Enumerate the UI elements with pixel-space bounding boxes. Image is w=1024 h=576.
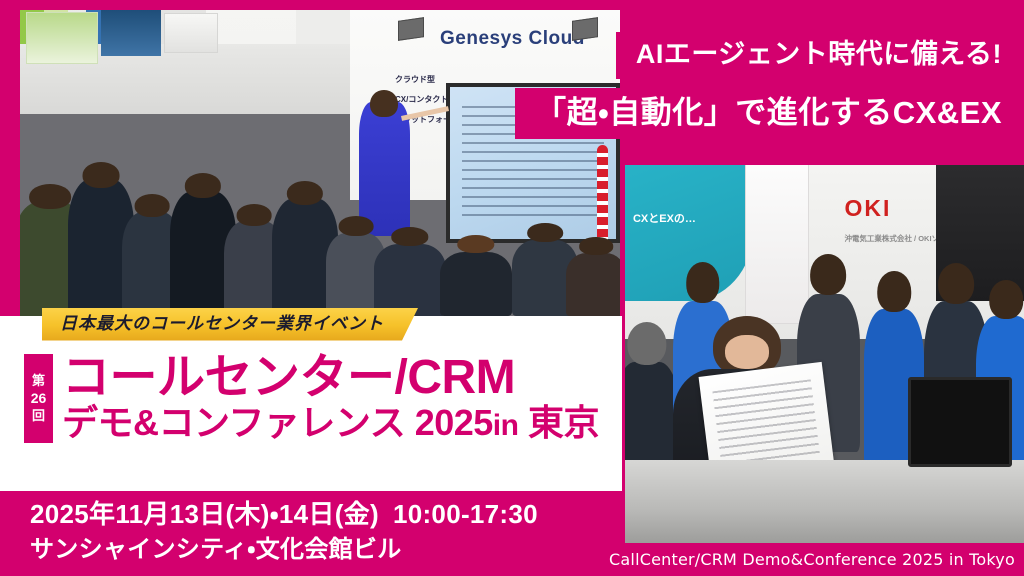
attendee xyxy=(374,244,446,316)
ceiling-speaker-icon xyxy=(398,17,424,41)
attendee-crowd xyxy=(20,126,620,316)
title-line-2-in: in xyxy=(493,409,519,442)
attendee xyxy=(566,253,620,316)
title-lines: コールセンター/CRM デモ&コンファレンス 2025in 東京 xyxy=(62,354,599,443)
schedule-band: 2025年11月13日(木)・14日(金)10:00-17:30 サンシャインシ… xyxy=(0,491,624,576)
event-info-panel: 日本最大のコールセンター業界イベント 第 26 回 コールセンター/CRM デモ… xyxy=(0,316,622,491)
genesys-subtitle-1: クラウド型 xyxy=(395,74,435,85)
caption-bar: CallCenter/CRM Demo&Conference 2025 in T… xyxy=(600,543,1024,576)
exhibit-counter xyxy=(625,460,1024,543)
attendee xyxy=(440,252,512,317)
demo-monitor xyxy=(908,377,1012,468)
title-line-2-city: 東京 xyxy=(528,402,599,443)
title-line-2-main: デモ&コンファレンス 2025 xyxy=(62,402,493,443)
expo-photo-right: CXとEXの… OKI 沖電気工業株式会社 / OKIソフトウェア xyxy=(625,165,1024,543)
booth-whiteboard xyxy=(745,165,809,324)
edition-number: 26 xyxy=(31,391,47,405)
title-line-2: デモ&コンファレンス 2025in 東京 xyxy=(62,403,599,443)
booth-panel-blue xyxy=(101,10,161,56)
event-date: 2025年11月13日(木)・14日(金) xyxy=(30,499,379,529)
event-venue: サンシャインシティ・文化会館ビル xyxy=(30,538,402,562)
headline-block: AIエージェント時代に備える! 「超・自動化」で進化するCX&EX xyxy=(515,32,1024,139)
event-date-time: 2025年11月13日(木)・14日(金)10:00-17:30 xyxy=(30,501,538,527)
oki-logo: OKI xyxy=(844,195,891,222)
event-time: 10:00-17:30 xyxy=(393,499,538,529)
edition-suffix: 回 xyxy=(32,409,45,422)
largest-event-badge: 日本最大のコールセンター業界イベント xyxy=(42,308,418,341)
edition-prefix: 第 xyxy=(32,374,45,387)
presenter-head xyxy=(370,90,398,118)
english-event-name: CallCenter/CRM Demo&Conference 2025 in T… xyxy=(609,550,1015,569)
title-line-1: コールセンター/CRM xyxy=(62,354,599,403)
headline-line-2: 「超・自動化」で進化するCX&EX xyxy=(515,88,1024,139)
booth-panel-white xyxy=(164,13,218,53)
headline-line-1: AIエージェント時代に備える! xyxy=(616,32,1024,79)
visitor-face xyxy=(725,335,769,369)
booth-panel-green xyxy=(26,12,98,64)
edition-badge: 第 26 回 xyxy=(24,354,53,443)
event-banner: Genesys Cloud クラウド型 CX/コンタクト プラットフォーム xyxy=(0,0,1024,576)
teal-banner-text: CXとEXの… xyxy=(633,210,696,226)
event-title: 第 26 回 コールセンター/CRM デモ&コンファレンス 2025in 東京 xyxy=(24,354,599,443)
genesys-subtitle-2: CX/コンタクト xyxy=(395,94,448,105)
